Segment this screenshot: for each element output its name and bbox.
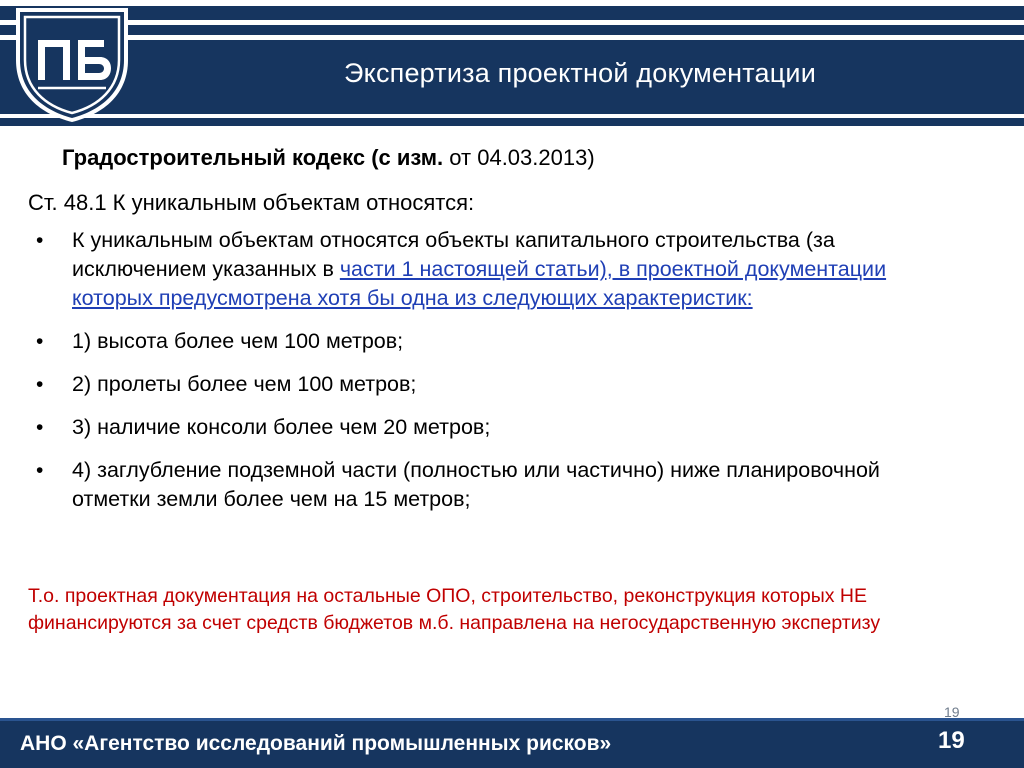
list-item-text: 1) высота более чем 100 метров; [72, 329, 403, 353]
list-item-text: 2) пролеты более чем 100 метров; [72, 372, 416, 396]
header-band-blue-3 [0, 118, 1024, 126]
page-number-small: 19 [944, 704, 960, 720]
list-item: •К уникальным объектам относятся объекты… [28, 226, 958, 313]
article-line: Ст. 48.1 К уникальным объектам относятся… [28, 190, 474, 216]
slide-header: Экспертиза проектной документации [0, 0, 1024, 128]
shield-pb-logo-icon [8, 2, 136, 126]
bullet-dot-icon: • [36, 413, 43, 442]
header-band-blue-2 [0, 25, 1024, 35]
bullet-dot-icon: • [36, 370, 43, 399]
list-item-text: 3) наличие консоли более чем 20 метров; [72, 415, 490, 439]
list-item: •1) высота более чем 100 метров; [28, 327, 958, 356]
list-item: •3) наличие консоли более чем 20 метров; [28, 413, 958, 442]
page-number-big: 19 [938, 727, 965, 755]
bullet-dot-icon: • [36, 226, 43, 255]
page-title: Экспертиза проектной документации [200, 58, 960, 89]
list-item-text: 4) заглубление подземной части (полность… [72, 458, 880, 511]
bullet-list: •К уникальным объектам относятся объекты… [28, 226, 958, 528]
bullet-dot-icon: • [36, 327, 43, 356]
red-note-text: Т.о. проектная документация на остальные… [28, 583, 928, 637]
footer-organization: АНО «Агентство исследований промышленных… [20, 732, 611, 756]
slide-content: Градостроительный кодекс (с изм. от 04.0… [0, 128, 1024, 718]
slide: Экспертиза проектной документации [0, 0, 1024, 768]
law-heading-bold: Градостроительный кодекс (с изм. [62, 145, 443, 170]
list-item: •2) пролеты более чем 100 метров; [28, 370, 958, 399]
law-heading-normal: от 04.03.2013) [443, 145, 595, 170]
header-band-blue-1 [0, 6, 1024, 20]
law-heading: Градостроительный кодекс (с изм. от 04.0… [62, 145, 595, 171]
slide-footer: АНО «Агентство исследований промышленных… [0, 718, 1024, 768]
list-item: •4) заглубление подземной части (полност… [28, 456, 958, 514]
footer-accent-line [0, 718, 1024, 721]
bullet-dot-icon: • [36, 456, 43, 485]
